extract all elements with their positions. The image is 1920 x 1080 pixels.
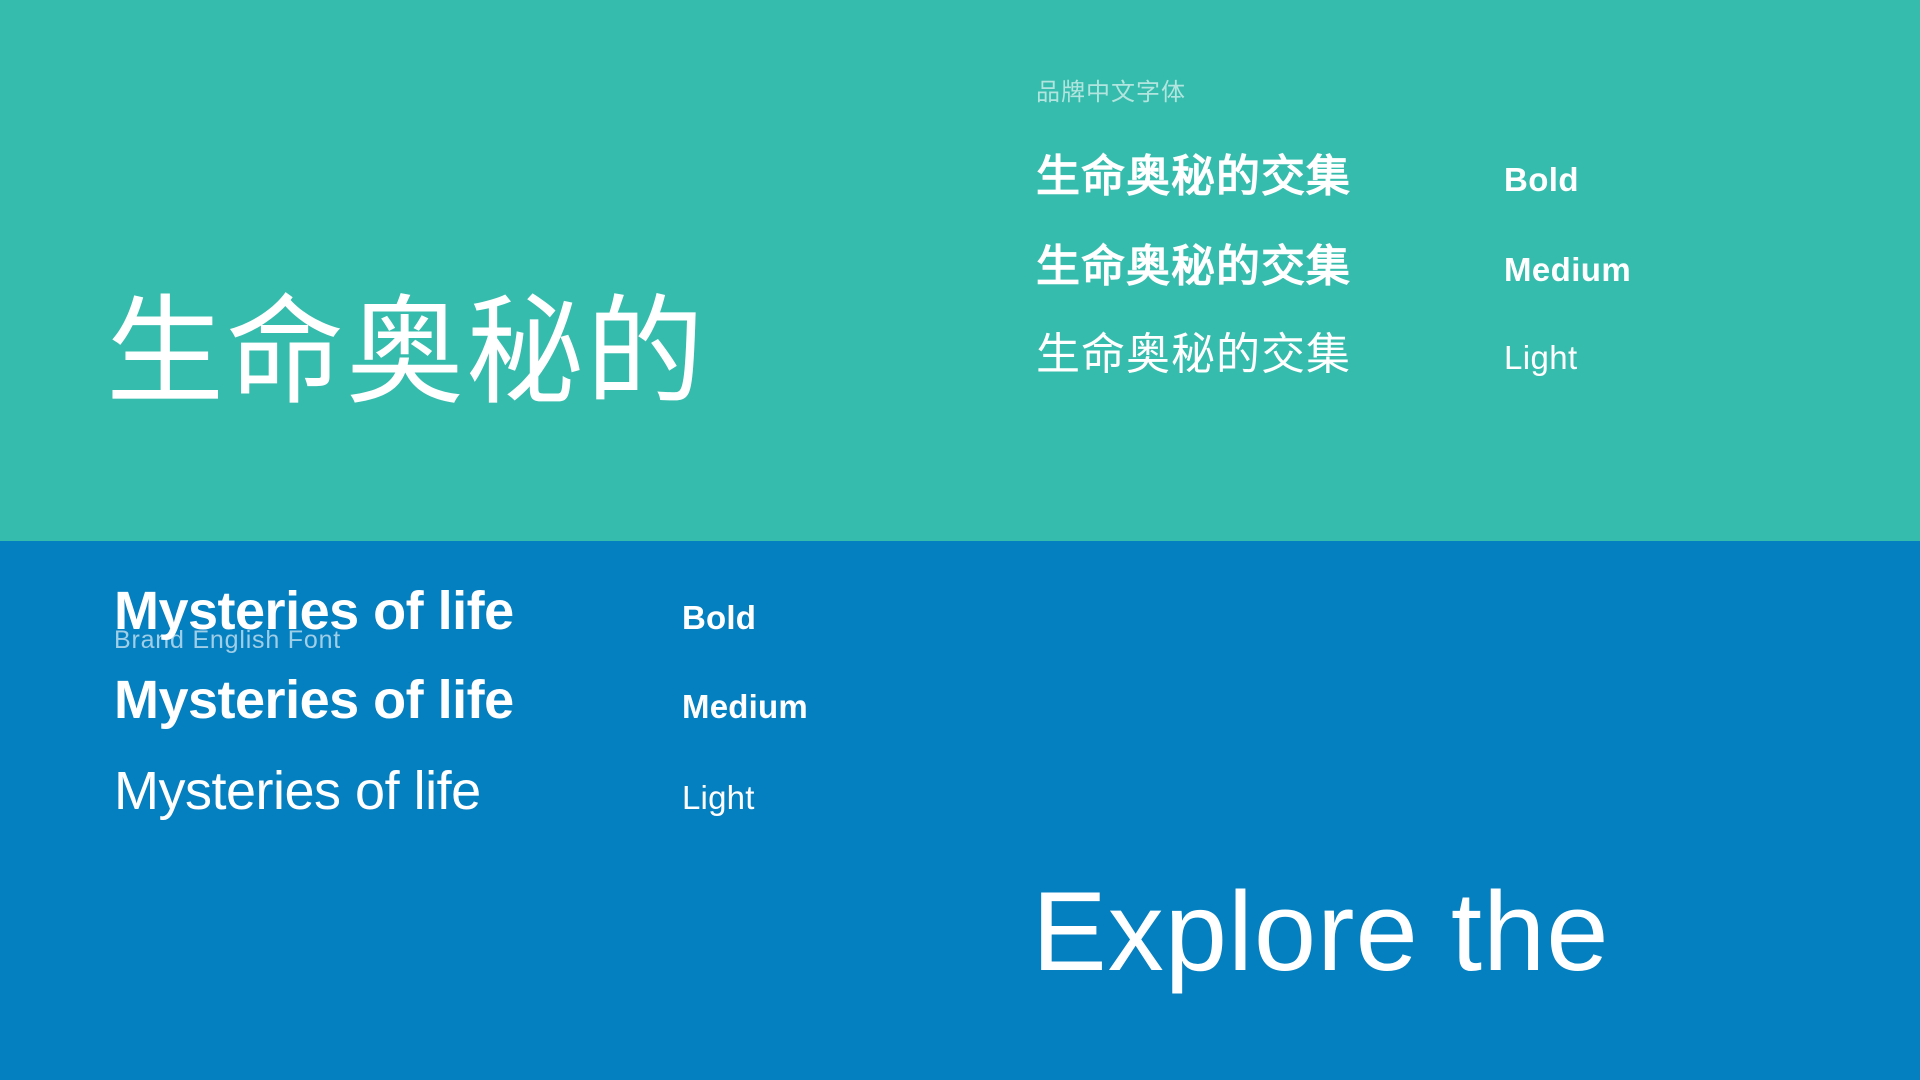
english-specimen-row-bold: Mysteries of life Bold [114, 580, 756, 642]
english-display-headline: Explore the mysteries of life [1032, 612, 1827, 1080]
english-display-headline-line-1: Explore the [1032, 868, 1827, 996]
english-specimen-row-light: Mysteries of life Light [114, 760, 755, 822]
chinese-section-label: 品牌中文字体 [1036, 72, 1186, 107]
chinese-specimen-sample-medium: 生命奥秘的交集 [1036, 230, 1436, 294]
english-specimen-row-medium: Mysteries of life Medium [114, 669, 808, 731]
typography-specimen-page: 生命奥秘的 交集 品牌中文字体 生命奥秘的交集 Bold 生命奥秘的交集 Med… [0, 0, 1920, 1080]
chinese-weight-label-light: Light [1504, 339, 1578, 377]
english-specimen-sample-light: Mysteries of life [114, 760, 584, 822]
chinese-specimen-sample-light: 生命奥秘的交集 [1036, 318, 1436, 382]
english-specimen-sample-bold: Mysteries of life [114, 580, 584, 642]
chinese-display-headline-line-1: 生命奥秘的 [106, 292, 706, 414]
chinese-specimen-row-bold: 生命奥秘的交集 Bold [1036, 140, 1579, 204]
chinese-specimen-row-light: 生命奥秘的交集 Light [1036, 318, 1578, 382]
chinese-specimen-row-medium: 生命奥秘的交集 Medium [1036, 230, 1631, 294]
english-specimen-sample-medium: Mysteries of life [114, 669, 584, 731]
chinese-specimen-sample-bold: 生命奥秘的交集 [1036, 140, 1436, 204]
english-weight-label-bold: Bold [682, 599, 756, 637]
chinese-weight-label-bold: Bold [1504, 161, 1579, 199]
english-weight-label-light: Light [682, 779, 755, 817]
english-weight-label-medium: Medium [682, 688, 808, 726]
chinese-weight-label-medium: Medium [1504, 251, 1631, 289]
